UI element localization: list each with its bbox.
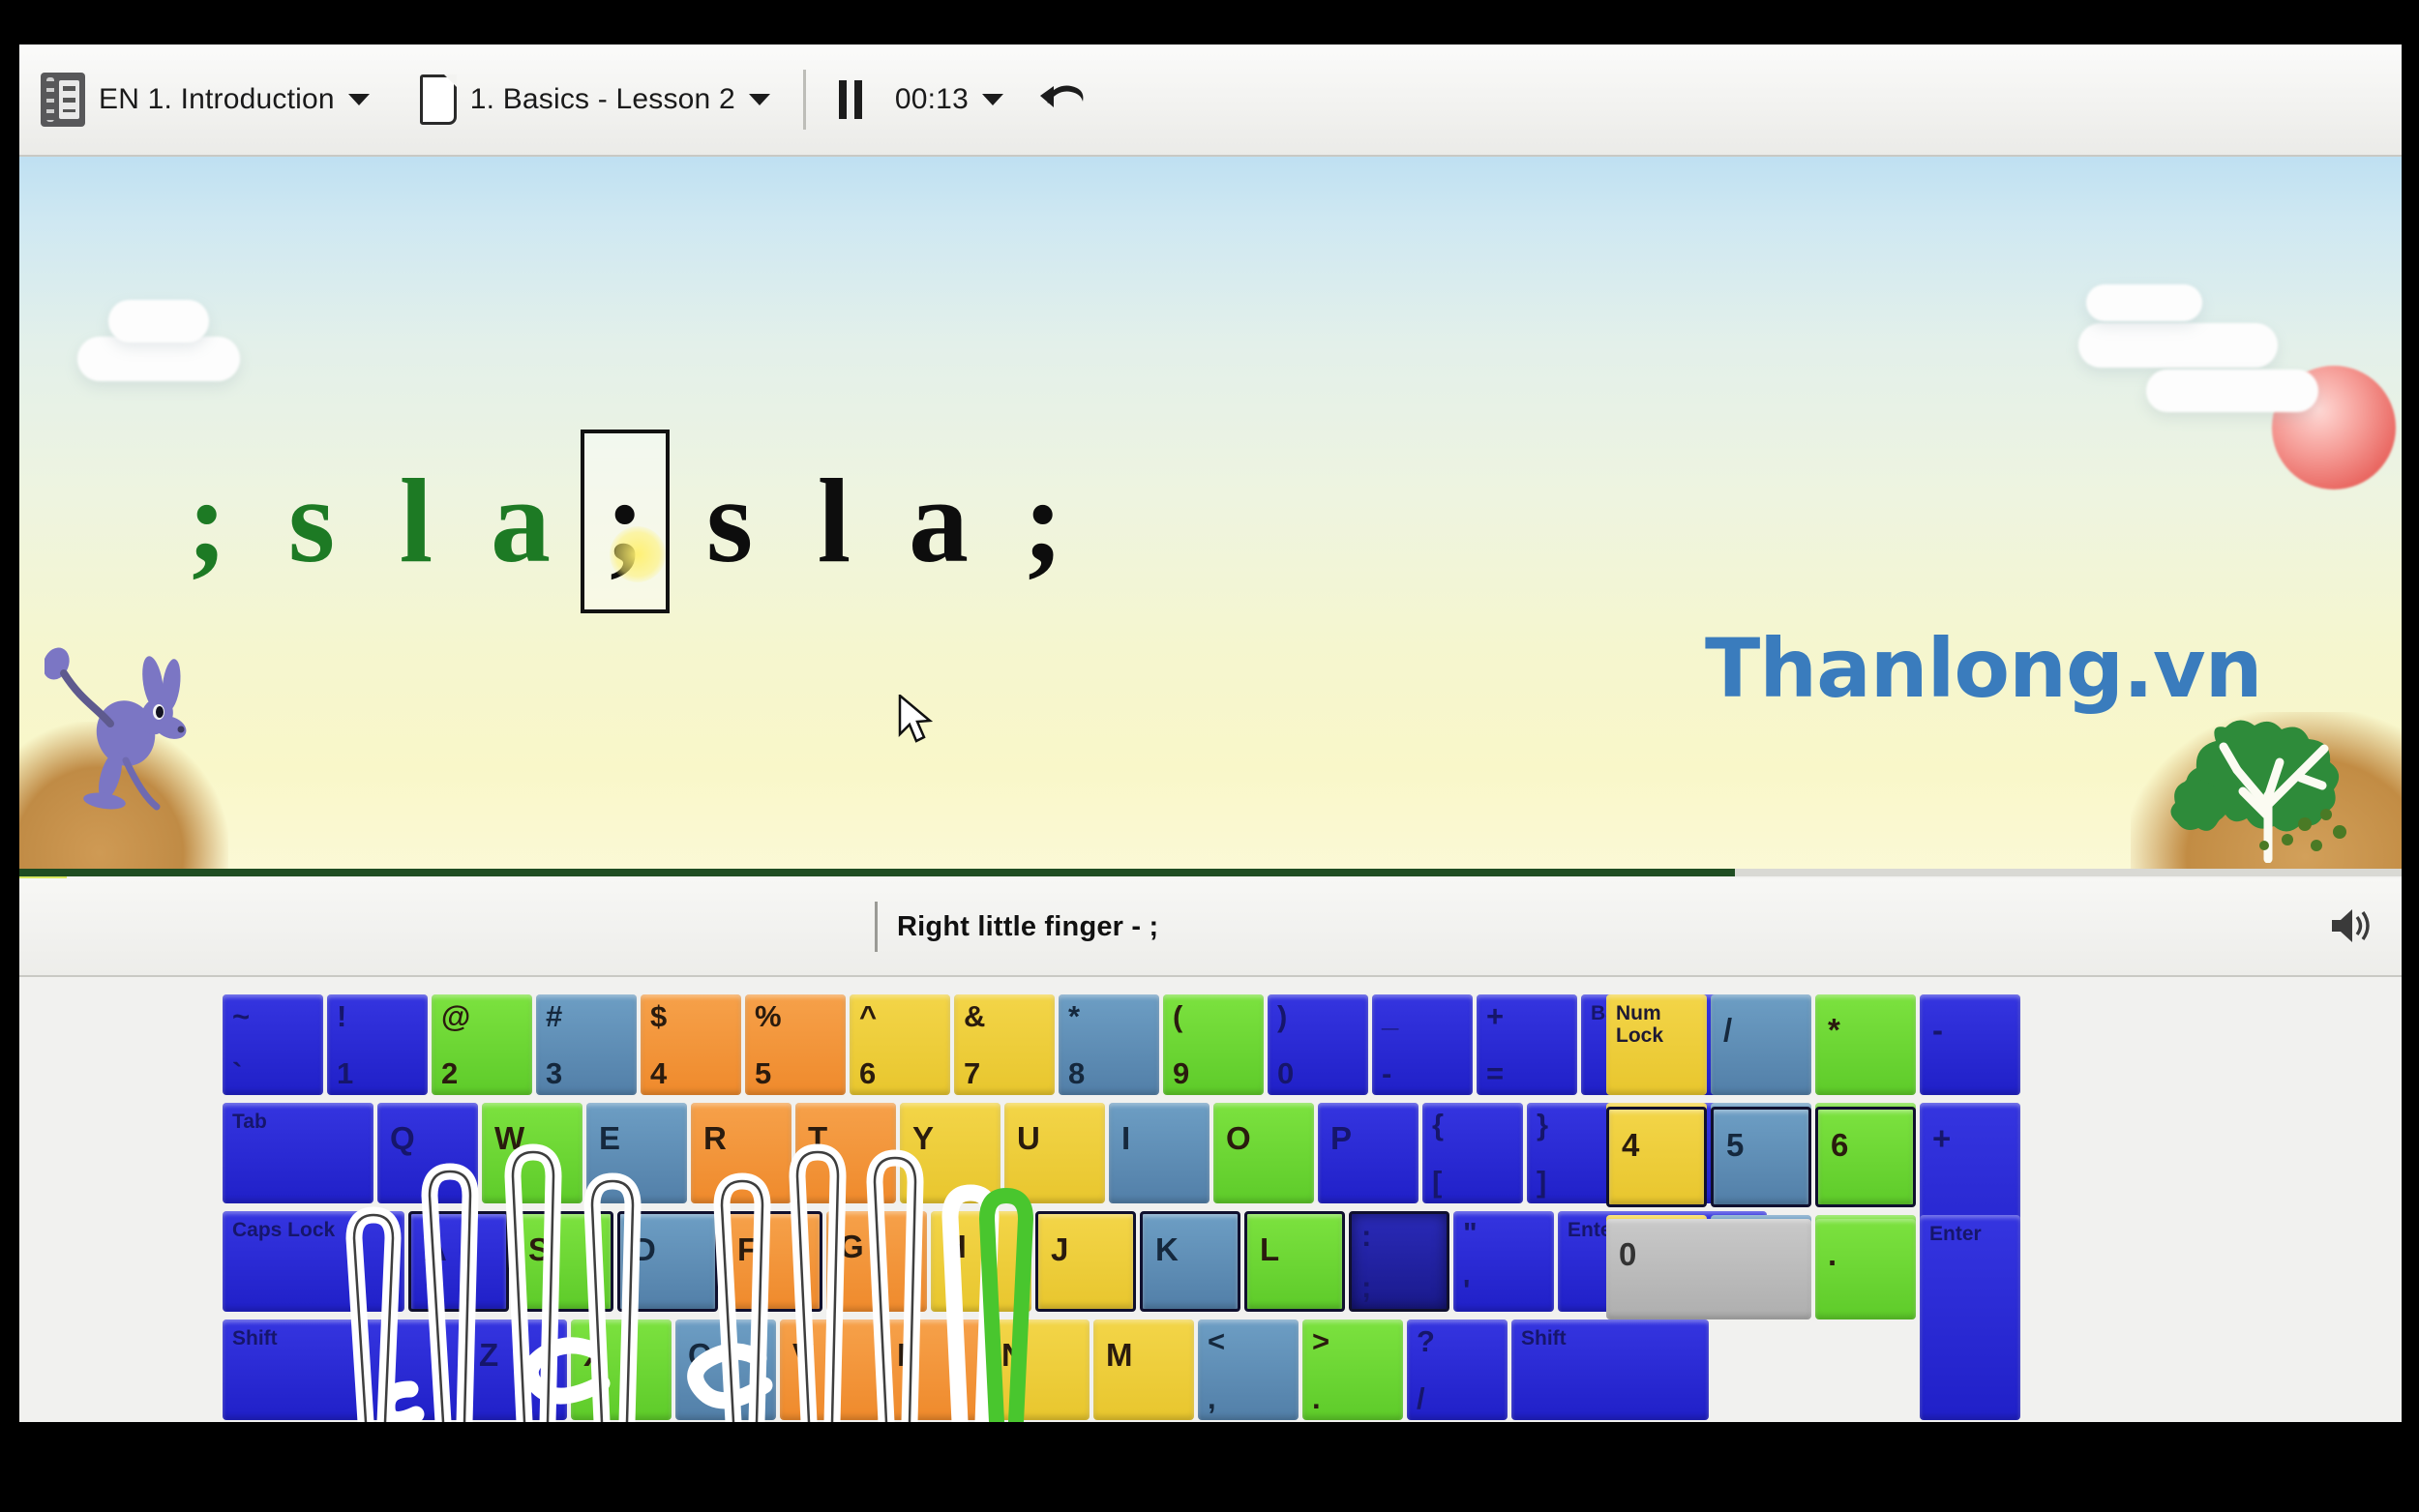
- key-glow-highlight: [610, 526, 666, 582]
- lesson-selector-label: EN 1. Introduction: [99, 83, 335, 116]
- key-shift-label: :: [1361, 1221, 1371, 1251]
- exercise-char-2: l: [364, 461, 468, 581]
- key-num-lock[interactable]: Num Lock: [1606, 994, 1707, 1095]
- exercise-char-1: s: [259, 461, 364, 581]
- exercise-char-0: ;: [155, 461, 259, 581]
- key-label: S: [516, 1231, 611, 1268]
- key--7[interactable]: &7: [954, 994, 1055, 1095]
- key-label: F: [725, 1231, 820, 1268]
- main-keyboard: ~`!1@2#3$4%5^6&7*8(9)0_-+=Back SpaceTabQ…: [223, 994, 1771, 1422]
- toolbar-divider: [803, 70, 806, 130]
- key-base-label: 4: [650, 1058, 667, 1088]
- key-base-label: 0: [1277, 1058, 1294, 1088]
- key-f[interactable]: F: [722, 1211, 822, 1312]
- key--9[interactable]: (9: [1163, 994, 1264, 1095]
- numpad-row: Num Lock/*-: [1606, 994, 2024, 1099]
- key-label: Shift: [232, 1328, 278, 1350]
- key-label: E: [586, 1120, 687, 1157]
- key-label: *: [1815, 1012, 1916, 1049]
- key-enter[interactable]: Enter: [1920, 1215, 2020, 1420]
- key-label: -: [1920, 1012, 2020, 1049]
- key--5[interactable]: %5: [745, 994, 846, 1095]
- key-4[interactable]: 4: [1606, 1107, 1707, 1207]
- key-label: /: [1711, 1012, 1811, 1049]
- chevron-down-icon[interactable]: [348, 94, 370, 105]
- key-label: +: [1920, 1120, 2020, 1157]
- key-base-label: 9: [1173, 1058, 1189, 1088]
- key-shift-label: %: [755, 1001, 782, 1031]
- key-caps-lock[interactable]: Caps Lock: [223, 1211, 404, 1312]
- hint-divider: [875, 902, 878, 952]
- exercise-char-current: ;: [581, 430, 670, 613]
- key--[interactable]: +=: [1477, 994, 1577, 1095]
- key-base-label: 1: [337, 1058, 353, 1088]
- cloud-decoration: [2086, 284, 2202, 321]
- key-shift-label: _: [1382, 1001, 1398, 1031]
- key--[interactable]: /: [1711, 994, 1811, 1095]
- timer-selector[interactable]: 00:13: [895, 83, 1003, 116]
- key--0[interactable]: )0: [1268, 994, 1368, 1095]
- key--[interactable]: <,: [1198, 1319, 1299, 1420]
- undo-arrow-icon: [1038, 78, 1089, 121]
- key-label: T: [795, 1120, 896, 1157]
- key-w[interactable]: W: [482, 1103, 582, 1203]
- key-m[interactable]: M: [1093, 1319, 1194, 1420]
- key-shift[interactable]: Shift: [1511, 1319, 1709, 1420]
- keyboard-row: Caps LockASDFGHJKL:;"'Enter: [223, 1211, 1771, 1316]
- animation-scene: ;sla;sla; Thanlong.vn: [19, 157, 2402, 876]
- cloud-decoration: [77, 337, 240, 381]
- key-t[interactable]: T: [795, 1103, 896, 1203]
- unit-selector[interactable]: 1. Basics - Lesson 2: [420, 74, 770, 125]
- key-q[interactable]: Q: [377, 1103, 478, 1203]
- key-b[interactable]: B: [884, 1319, 985, 1420]
- exercise-char-7: a: [886, 461, 991, 581]
- key-h[interactable]: H: [931, 1211, 1031, 1312]
- pause-button[interactable]: [839, 80, 862, 119]
- timer-label: 00:13: [895, 83, 969, 116]
- key--[interactable]: .: [1815, 1219, 1916, 1319]
- key-label: M: [1093, 1337, 1194, 1374]
- key-base-label: =: [1486, 1058, 1504, 1088]
- lesson-selector[interactable]: EN 1. Introduction: [41, 73, 370, 127]
- key-base-label: 6: [859, 1058, 876, 1088]
- toolbar: EN 1. Introduction 1. Basics - Lesson 2 …: [19, 44, 2402, 157]
- key-base-label: ': [1463, 1275, 1470, 1305]
- key-label: 0: [1606, 1236, 1811, 1273]
- key-j[interactable]: J: [1035, 1211, 1136, 1312]
- key-shift-label: !: [337, 1001, 346, 1031]
- key-a[interactable]: A: [408, 1211, 509, 1312]
- key-base-label: [: [1432, 1167, 1442, 1197]
- chevron-down-icon[interactable]: [982, 94, 1003, 105]
- cloud-decoration: [2146, 370, 2318, 412]
- key-5[interactable]: 5: [1711, 1107, 1811, 1207]
- key-v[interactable]: V: [780, 1319, 881, 1420]
- key-label: K: [1143, 1231, 1238, 1268]
- progress-fill: [19, 869, 1735, 876]
- key-label: G: [826, 1229, 927, 1265]
- key--8[interactable]: *8: [1059, 994, 1159, 1095]
- key-base-label: 5: [755, 1058, 771, 1088]
- key-label: R: [691, 1120, 791, 1157]
- key-label: Y: [900, 1120, 1000, 1157]
- numeric-keypad: Num Lock/*-789+456123Enter0.: [1606, 994, 2024, 1327]
- key-label: B: [884, 1337, 985, 1374]
- key-base-label: /: [1417, 1383, 1425, 1413]
- key-label: V: [780, 1337, 881, 1374]
- key-u[interactable]: U: [1004, 1103, 1105, 1203]
- key-label: H: [931, 1229, 1031, 1265]
- key-shift-label: ": [1463, 1218, 1478, 1248]
- key-shift-label: &: [964, 1001, 985, 1031]
- key-c[interactable]: C: [675, 1319, 776, 1420]
- key-label: X: [571, 1337, 672, 1374]
- key--3[interactable]: #3: [536, 994, 637, 1095]
- app-window: EN 1. Introduction 1. Basics - Lesson 2 …: [19, 44, 2402, 1422]
- keyboard-row: ShiftZXCVBNM<,>.?/Shift: [223, 1319, 1771, 1422]
- page-icon: [420, 74, 457, 125]
- key-base-label: ;: [1361, 1272, 1371, 1302]
- exercise-char-8: ;: [991, 461, 1095, 581]
- key-y[interactable]: Y: [900, 1103, 1000, 1203]
- key-p[interactable]: P: [1318, 1103, 1419, 1203]
- key-label: Enter: [1929, 1224, 1982, 1246]
- key--[interactable]: "': [1453, 1211, 1554, 1312]
- key--[interactable]: *: [1815, 994, 1916, 1095]
- key-label: Z: [466, 1337, 567, 1374]
- key-label: I: [1109, 1120, 1209, 1157]
- key-label: D: [620, 1231, 715, 1268]
- key-shift-label: ~: [232, 1001, 250, 1031]
- key-base-label: `: [232, 1058, 242, 1088]
- key-label: Tab: [232, 1112, 267, 1134]
- key-base-label: 3: [546, 1058, 562, 1088]
- mouse-cursor: [898, 695, 933, 745]
- key-shift-label: }: [1537, 1110, 1548, 1140]
- exercise-char-3: a: [468, 461, 573, 581]
- cloud-decoration: [108, 300, 209, 342]
- key-label: .: [1815, 1236, 1916, 1273]
- key-label: Caps Lock: [232, 1220, 335, 1242]
- key-label: C: [675, 1337, 776, 1374]
- key-shift-label: $: [650, 1001, 667, 1031]
- keyboard-panel: ~`!1@2#3$4%5^6&7*8(9)0_-+=Back SpaceTabQ…: [19, 977, 2402, 1422]
- key--1[interactable]: !1: [327, 994, 428, 1095]
- pause-icon: [839, 80, 862, 119]
- key-e[interactable]: E: [586, 1103, 687, 1203]
- key-x[interactable]: X: [571, 1319, 672, 1420]
- watermark-text: Thanlong.vn: [1705, 621, 2261, 716]
- keyboard-row: ~`!1@2#3$4%5^6&7*8(9)0_-+=Back Space: [223, 994, 1771, 1099]
- key-base-label: ,: [1208, 1383, 1216, 1413]
- finger-hint-bar: Right little finger - ;: [19, 878, 2402, 977]
- key-label: W: [482, 1120, 582, 1157]
- key-shift-label: @: [441, 1001, 470, 1031]
- key-base-label: ]: [1537, 1167, 1546, 1197]
- key-label: 5: [1714, 1127, 1808, 1164]
- key-label: O: [1213, 1120, 1314, 1157]
- key-s[interactable]: S: [513, 1211, 613, 1312]
- key--[interactable]: >.: [1302, 1319, 1403, 1420]
- key-label: P: [1318, 1120, 1419, 1157]
- key-label: 6: [1818, 1127, 1913, 1164]
- key-label: Shift: [1521, 1328, 1567, 1350]
- key-base-label: 7: [964, 1058, 980, 1088]
- key-r[interactable]: R: [691, 1103, 791, 1203]
- key-d[interactable]: D: [617, 1211, 718, 1312]
- key-base-label: -: [1382, 1058, 1391, 1088]
- key-label: 4: [1609, 1127, 1704, 1164]
- key-label: L: [1247, 1231, 1342, 1268]
- key--[interactable]: -: [1920, 994, 2020, 1095]
- key-6[interactable]: 6: [1815, 1107, 1916, 1207]
- key--[interactable]: ?/: [1407, 1319, 1508, 1420]
- key-shift-label: ): [1277, 1001, 1287, 1031]
- key-shift-label: <: [1208, 1326, 1225, 1356]
- key-shift-label: {: [1432, 1110, 1444, 1140]
- key-label: U: [1004, 1120, 1105, 1157]
- key-k[interactable]: K: [1140, 1211, 1240, 1312]
- key--[interactable]: :;: [1349, 1211, 1449, 1312]
- exercise-char-6: l: [782, 461, 886, 581]
- key-tab[interactable]: Tab: [223, 1103, 373, 1203]
- key-shift-label: *: [1068, 1001, 1080, 1031]
- screen-frame: EN 1. Introduction 1. Basics - Lesson 2 …: [0, 0, 2419, 1512]
- key-shift-label: #: [546, 1001, 562, 1031]
- key-shift-label: (: [1173, 1001, 1182, 1031]
- key-shift-label: ^: [859, 1001, 877, 1031]
- finger-hint-text: Right little finger - ;: [897, 911, 1158, 943]
- key--4[interactable]: $4: [641, 994, 741, 1095]
- key-base-label: 8: [1068, 1058, 1085, 1088]
- exercise-text-line: ;sla;sla;: [19, 439, 2402, 604]
- kangaroo-illustration: [45, 640, 219, 824]
- key-label: Q: [377, 1120, 478, 1157]
- key-l[interactable]: L: [1244, 1211, 1345, 1312]
- key--[interactable]: _-: [1372, 994, 1473, 1095]
- cloud-decoration: [2078, 323, 2278, 368]
- key-shift[interactable]: Shift: [223, 1319, 463, 1420]
- key-label: Num Lock: [1616, 1003, 1663, 1047]
- unit-selector-label: 1. Basics - Lesson 2: [470, 83, 735, 116]
- key-label: A: [411, 1231, 506, 1268]
- key-label: J: [1038, 1231, 1133, 1268]
- key--[interactable]: ~`: [223, 994, 323, 1095]
- key-shift-label: ?: [1417, 1326, 1435, 1356]
- key-base-label: .: [1312, 1383, 1321, 1413]
- key--2[interactable]: @2: [432, 994, 532, 1095]
- key-base-label: 2: [441, 1058, 458, 1088]
- lesson-book-icon: [41, 73, 85, 127]
- key-label: N: [989, 1337, 1090, 1374]
- key--[interactable]: {[: [1422, 1103, 1523, 1203]
- key-i[interactable]: I: [1109, 1103, 1209, 1203]
- key--6[interactable]: ^6: [850, 994, 950, 1095]
- key-g[interactable]: G: [826, 1211, 927, 1312]
- key-z[interactable]: Z: [466, 1319, 567, 1420]
- chevron-down-icon[interactable]: [749, 94, 770, 105]
- key-shift-label: +: [1486, 1001, 1504, 1031]
- key-o[interactable]: O: [1213, 1103, 1314, 1203]
- key-0[interactable]: 0: [1606, 1219, 1811, 1319]
- lesson-progress-bar: [19, 869, 2402, 876]
- key-n[interactable]: N: [989, 1319, 1090, 1420]
- speaker-icon[interactable]: [2328, 904, 2374, 948]
- keyboard-row: TabQWERTYUIOP{[}]|\: [223, 1103, 1771, 1207]
- undo-button[interactable]: [1038, 78, 1089, 121]
- exercise-char-5: s: [677, 461, 782, 581]
- key-shift-label: >: [1312, 1326, 1329, 1356]
